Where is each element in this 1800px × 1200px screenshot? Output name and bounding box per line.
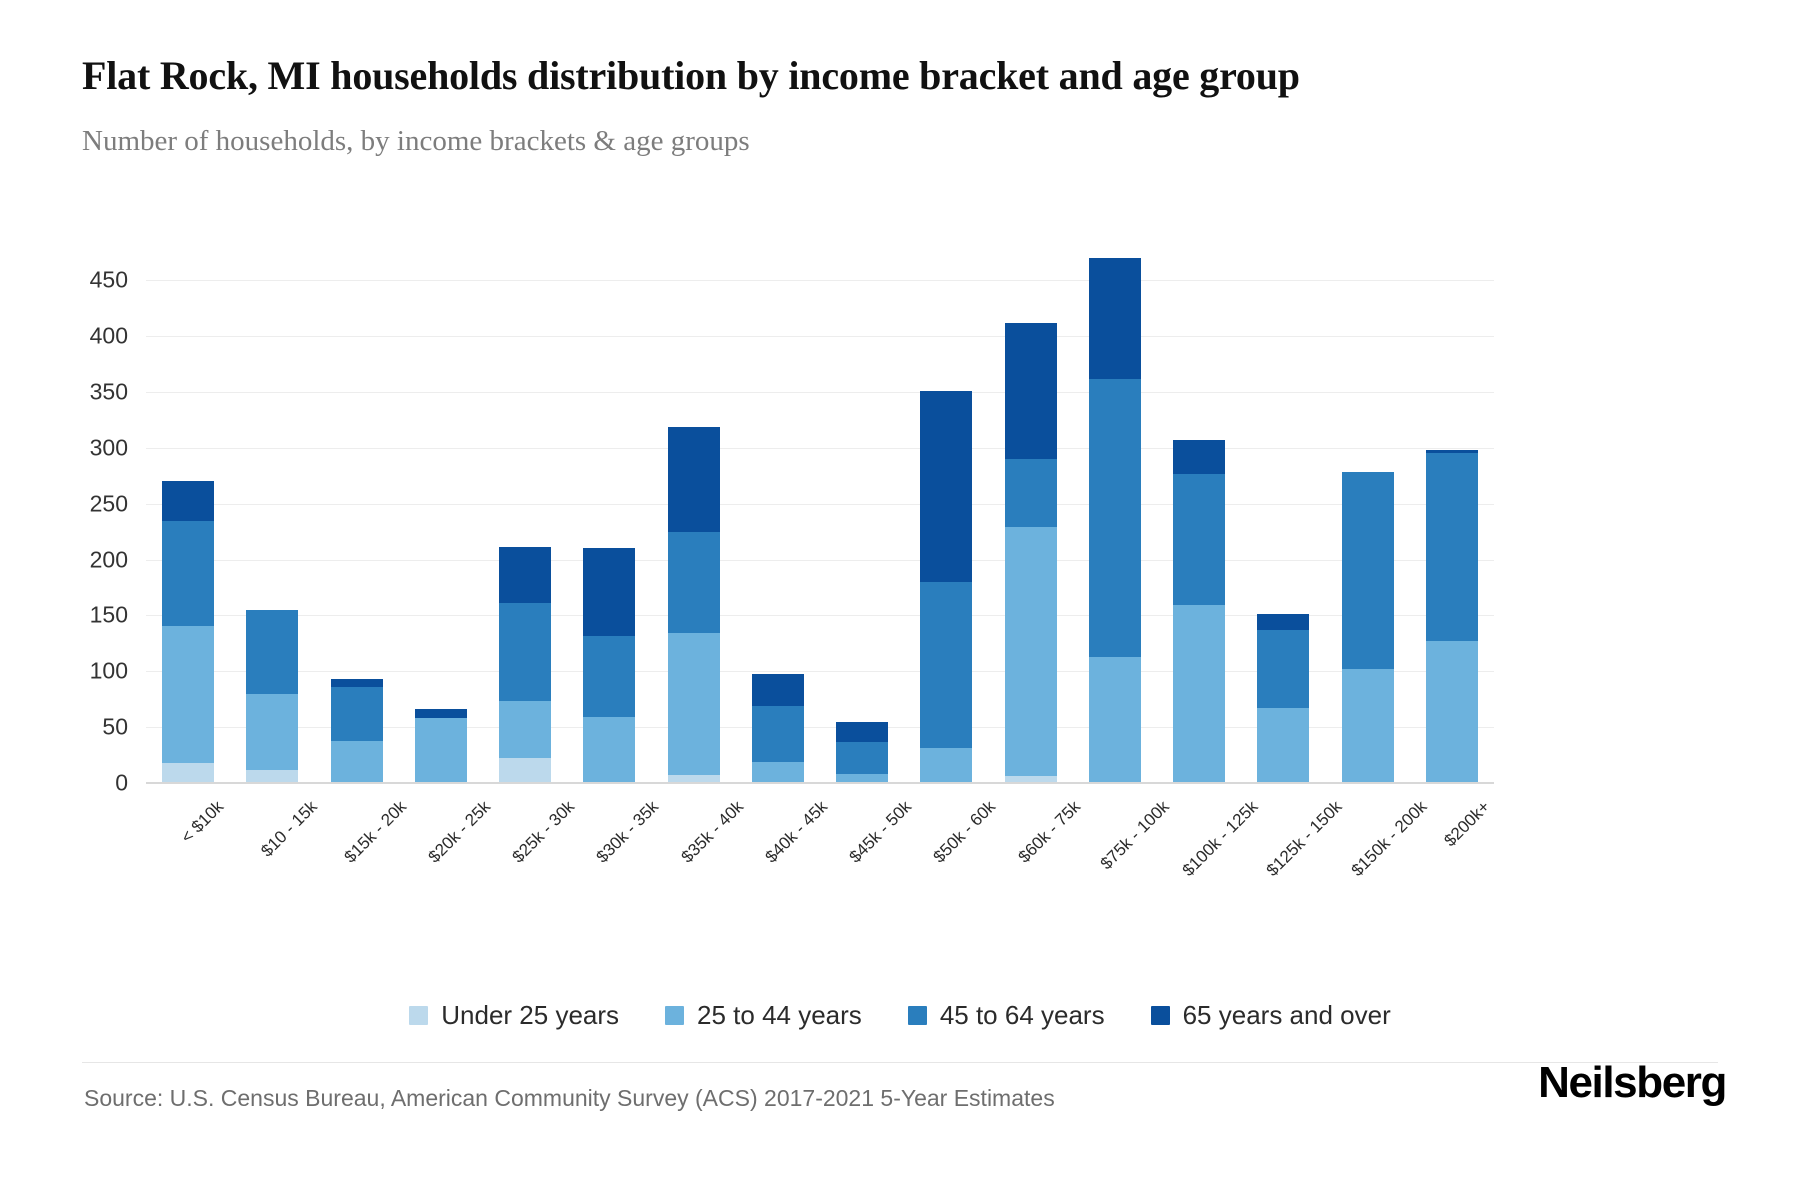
stacked-bar[interactable] (1089, 258, 1141, 783)
x-label-slot: $35k - 40k (652, 789, 736, 909)
y-axis-tick-label: 250 (90, 490, 128, 517)
legend-item[interactable]: 65 years and over (1151, 1000, 1391, 1031)
bar-segment[interactable] (331, 679, 383, 687)
bar-segment[interactable] (246, 770, 298, 783)
bar-slot (1157, 258, 1241, 783)
x-label-slot: $200k+ (1410, 789, 1494, 909)
bar-segment[interactable] (1426, 641, 1478, 783)
legend-swatch-icon (409, 1006, 428, 1025)
bar-segment[interactable] (1257, 614, 1309, 630)
bar-slot (1326, 258, 1410, 783)
bar-segment[interactable] (836, 742, 888, 774)
x-label-slot: $150k - 200k (1326, 789, 1410, 909)
bar-segment[interactable] (162, 521, 214, 626)
y-axis-tick-label: 450 (90, 267, 128, 294)
bars-group (146, 258, 1494, 783)
x-label-slot: $30k - 35k (567, 789, 651, 909)
x-label-slot: $50k - 60k (904, 789, 988, 909)
bar-segment[interactable] (499, 603, 551, 701)
bar-slot (652, 258, 736, 783)
footer-divider (82, 1062, 1718, 1063)
bar-segment[interactable] (752, 762, 804, 783)
bar-segment[interactable] (162, 481, 214, 520)
bar-slot (567, 258, 651, 783)
x-label-slot: < $10k (146, 789, 230, 909)
bar-segment[interactable] (246, 694, 298, 770)
bar-segment[interactable] (920, 748, 972, 783)
y-axis-tick-label: 0 (115, 770, 128, 797)
bar-slot (483, 258, 567, 783)
x-axis-tick-label: $200k+ (1440, 797, 1494, 851)
x-label-slot: $45k - 50k (820, 789, 904, 909)
source-note: Source: U.S. Census Bureau, American Com… (84, 1085, 1055, 1112)
bar-slot (1073, 258, 1157, 783)
x-label-slot: $125k - 150k (1241, 789, 1325, 909)
stacked-bar[interactable] (668, 427, 720, 783)
x-label-slot: $20k - 25k (399, 789, 483, 909)
bar-slot (1410, 258, 1494, 783)
bar-segment[interactable] (583, 717, 635, 783)
bar-segment[interactable] (1089, 657, 1141, 783)
bar-segment[interactable] (246, 610, 298, 694)
y-axis-tick-label: 200 (90, 546, 128, 573)
x-axis-labels: < $10k$10 - 15k$15k - 20k$20k - 25k$25k … (146, 789, 1494, 909)
y-axis-tick-label: 150 (90, 602, 128, 629)
bar-slot (315, 258, 399, 783)
bar-segment[interactable] (1089, 379, 1141, 657)
chart-legend: Under 25 years25 to 44 years45 to 64 yea… (0, 1000, 1800, 1031)
bar-slot (820, 258, 904, 783)
bar-segment[interactable] (499, 758, 551, 783)
y-axis-tick-label: 350 (90, 379, 128, 406)
bar-slot (989, 258, 1073, 783)
x-label-slot: $25k - 30k (483, 789, 567, 909)
plot-area: 050100150200250300350400450 (146, 258, 1494, 783)
x-axis-line (146, 782, 1494, 784)
bar-segment[interactable] (331, 687, 383, 741)
bar-segment[interactable] (1342, 669, 1394, 783)
legend-label: Under 25 years (441, 1000, 619, 1031)
stacked-bar[interactable] (1426, 450, 1478, 783)
legend-item[interactable]: 25 to 44 years (665, 1000, 862, 1031)
bar-segment[interactable] (1005, 459, 1057, 527)
stacked-bar[interactable] (752, 674, 804, 783)
stacked-bar[interactable] (162, 481, 214, 783)
y-axis-tick-label: 300 (90, 434, 128, 461)
stacked-bar[interactable] (415, 709, 467, 783)
bar-slot (1241, 258, 1325, 783)
stacked-bar[interactable] (1173, 440, 1225, 783)
legend-item[interactable]: 45 to 64 years (908, 1000, 1105, 1031)
bar-segment[interactable] (1005, 323, 1057, 459)
bar-slot (399, 258, 483, 783)
neilsberg-logo: Neilsberg (1538, 1058, 1726, 1108)
x-label-slot: $75k - 100k (1073, 789, 1157, 909)
bar-segment[interactable] (1005, 527, 1057, 776)
bar-segment[interactable] (499, 701, 551, 758)
bar-segment[interactable] (583, 548, 635, 635)
x-label-slot: $10 - 15k (230, 789, 314, 909)
x-label-slot: $100k - 125k (1157, 789, 1241, 909)
x-label-slot: $40k - 45k (736, 789, 820, 909)
y-axis-tick-label: 50 (102, 714, 128, 741)
bar-segment[interactable] (920, 391, 972, 582)
bar-segment[interactable] (1342, 472, 1394, 669)
bar-segment[interactable] (920, 582, 972, 748)
x-label-slot: $60k - 75k (989, 789, 1073, 909)
bar-segment[interactable] (1257, 708, 1309, 783)
bar-segment[interactable] (1173, 605, 1225, 783)
bar-segment[interactable] (836, 722, 888, 742)
legend-swatch-icon (665, 1006, 684, 1025)
bar-segment[interactable] (1173, 440, 1225, 474)
stacked-bar[interactable] (1257, 614, 1309, 783)
bar-slot (736, 258, 820, 783)
stacked-bar[interactable] (246, 610, 298, 783)
bar-segment[interactable] (415, 709, 467, 718)
x-axis-tick-label: < $10k (177, 797, 228, 848)
bar-segment[interactable] (1426, 453, 1478, 641)
x-axis-tick-label: $10 - 15k (258, 797, 322, 861)
legend-swatch-icon (908, 1006, 927, 1025)
stacked-bar[interactable] (1005, 323, 1057, 783)
stacked-bar[interactable] (499, 547, 551, 783)
bar-slot (230, 258, 314, 783)
bar-segment[interactable] (583, 636, 635, 718)
bar-segment[interactable] (415, 718, 467, 783)
stacked-bar[interactable] (836, 722, 888, 783)
y-axis-tick-label: 100 (90, 658, 128, 685)
bar-segment[interactable] (162, 763, 214, 783)
bar-slot (146, 258, 230, 783)
bar-segment[interactable] (499, 547, 551, 603)
bar-segment[interactable] (668, 427, 720, 532)
stacked-bar[interactable] (1342, 472, 1394, 783)
legend-item[interactable]: Under 25 years (409, 1000, 619, 1031)
bar-slot (904, 258, 988, 783)
legend-swatch-icon (1151, 1006, 1170, 1025)
legend-label: 65 years and over (1183, 1000, 1391, 1031)
legend-label: 45 to 64 years (940, 1000, 1105, 1031)
stacked-bar[interactable] (583, 548, 635, 783)
x-label-slot: $15k - 20k (315, 789, 399, 909)
stacked-bar[interactable] (331, 679, 383, 783)
bar-segment[interactable] (162, 626, 214, 763)
bar-segment[interactable] (1089, 258, 1141, 379)
bar-segment[interactable] (752, 674, 804, 706)
bar-segment[interactable] (1173, 474, 1225, 606)
bar-segment[interactable] (668, 532, 720, 634)
legend-label: 25 to 44 years (697, 1000, 862, 1031)
stacked-bar[interactable] (920, 391, 972, 783)
bar-segment[interactable] (668, 633, 720, 775)
chart-page: Flat Rock, MI households distribution by… (0, 0, 1800, 1200)
bar-segment[interactable] (331, 741, 383, 783)
y-axis-tick-label: 400 (90, 323, 128, 350)
bar-segment[interactable] (752, 706, 804, 762)
bar-segment[interactable] (1257, 630, 1309, 708)
